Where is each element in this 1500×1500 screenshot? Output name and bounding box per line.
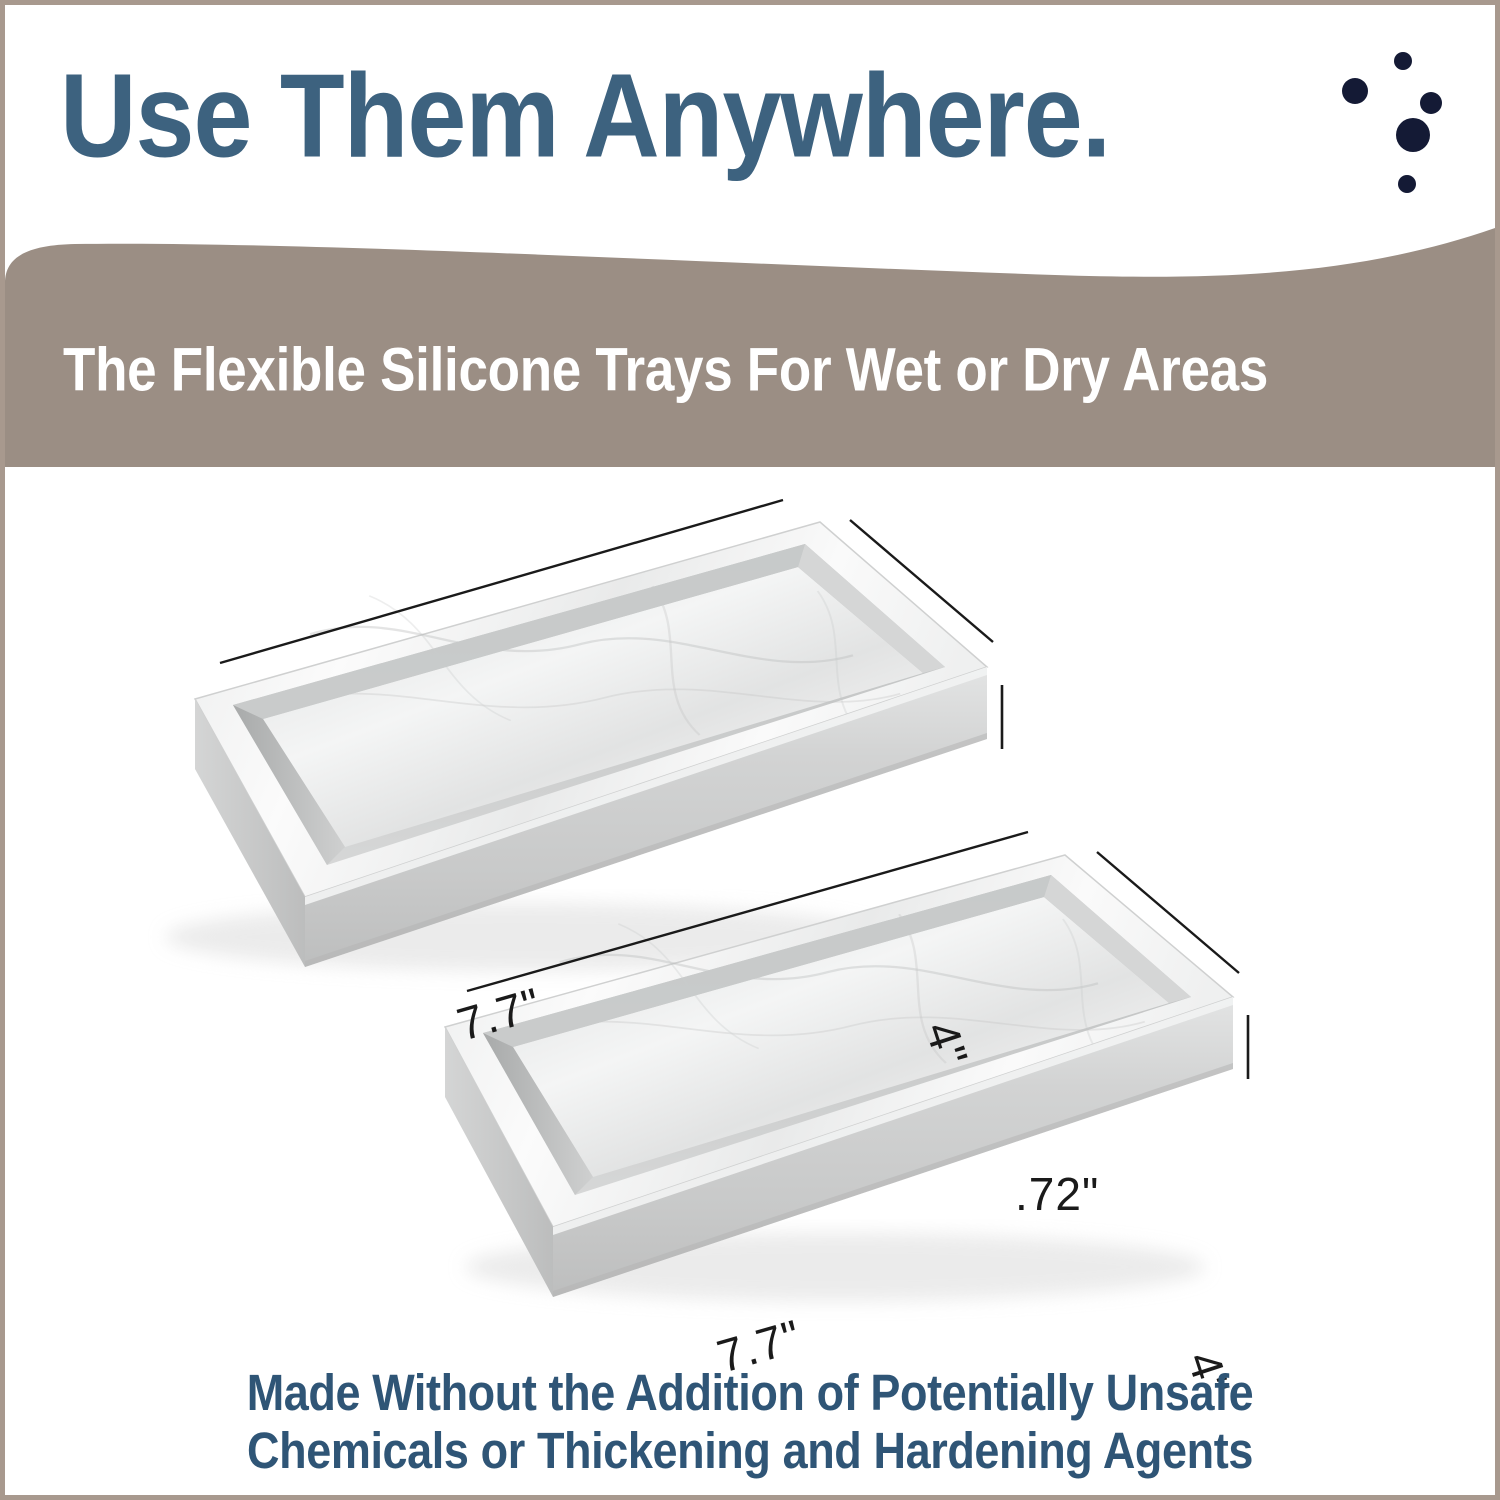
product-infographic: Use Them Anywhere. The Flexible Silicone… — [0, 0, 1500, 1500]
tray-illustrations: spacewiser — [5, 467, 1495, 1367]
decorative-dot — [1420, 92, 1442, 114]
decorative-dots-cluster — [1335, 25, 1495, 205]
subtitle-banner: The Flexible Silicone Trays For Wet or D… — [5, 223, 1495, 473]
decorative-dot — [1396, 118, 1430, 152]
footer-line-1: Made Without the Addition of Potentially… — [5, 1360, 1495, 1426]
banner-subtitle: The Flexible Silicone Trays For Wet or D… — [63, 335, 1268, 406]
tray-top-height-label: .72" — [1015, 1167, 1099, 1221]
footer-line-2: Chemicals or Thickening and Hardening Ag… — [5, 1418, 1495, 1484]
decorative-dot — [1342, 78, 1368, 104]
decorative-dot — [1398, 175, 1416, 193]
page-title: Use Them Anywhere. — [60, 57, 1110, 176]
footer-section: Made Without the Addition of Potentially… — [5, 1360, 1495, 1500]
hero-section: Use Them Anywhere. — [5, 5, 1495, 255]
tray-bottom-height-label: .72" — [1263, 1495, 1347, 1500]
decorative-dot — [1394, 52, 1412, 70]
product-showcase: spacewiser — [5, 467, 1495, 1367]
